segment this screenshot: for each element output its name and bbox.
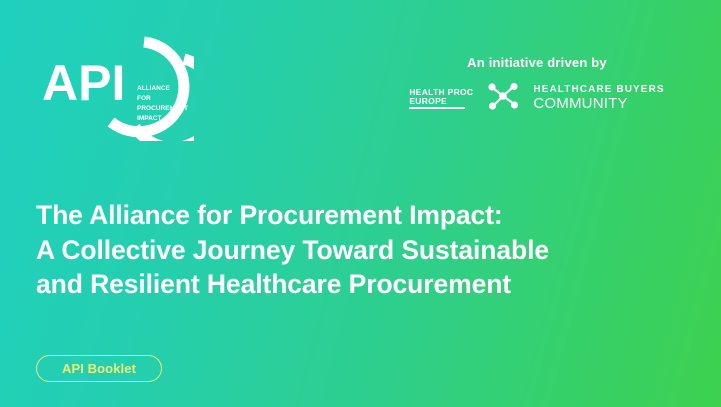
- hpe-underline: [409, 107, 465, 109]
- logo-tagline-line-4: IMPACT: [137, 115, 161, 122]
- initiative-label: An initiative driven by: [387, 55, 687, 70]
- logo-tagline-line-3: PROCUREMENT: [137, 105, 188, 112]
- people-nodes-icon: [486, 81, 520, 116]
- title-line-3: and Resilient Healthcare Procurement: [36, 267, 676, 302]
- api-booklet-badge: API Booklet: [36, 355, 162, 382]
- initiative-block: An initiative driven by HEALTH PROC EURO…: [387, 55, 687, 116]
- logo-tagline-line-2: FOR: [137, 95, 151, 102]
- health-proc-europe-logo: HEALTH PROC EUROPE: [409, 88, 473, 109]
- hbc-top-line: HEALTHCARE BUYERS: [533, 85, 664, 96]
- api-logo: API ALLIANCE FOR PROCUREMENT IMPACT: [34, 26, 194, 141]
- healthcare-buyers-community-logo: HEALTHCARE BUYERS COMMUNITY: [533, 85, 664, 112]
- page-title: The Alliance for Procurement Impact: A C…: [36, 198, 676, 302]
- logo-tagline-line-1: ALLIANCE: [137, 85, 171, 92]
- hpe-line-2: EUROPE: [409, 97, 473, 106]
- partner-logos: HEALTH PROC EUROPE: [387, 81, 687, 116]
- title-slide: API ALLIANCE FOR PROCUREMENT IMPACT An i…: [0, 0, 721, 407]
- svg-text:API: API: [42, 55, 125, 111]
- title-line-2: A Collective Journey Toward Sustainable: [36, 233, 676, 268]
- title-line-1: The Alliance for Procurement Impact:: [36, 198, 676, 233]
- hbc-bottom-line: COMMUNITY: [533, 96, 664, 112]
